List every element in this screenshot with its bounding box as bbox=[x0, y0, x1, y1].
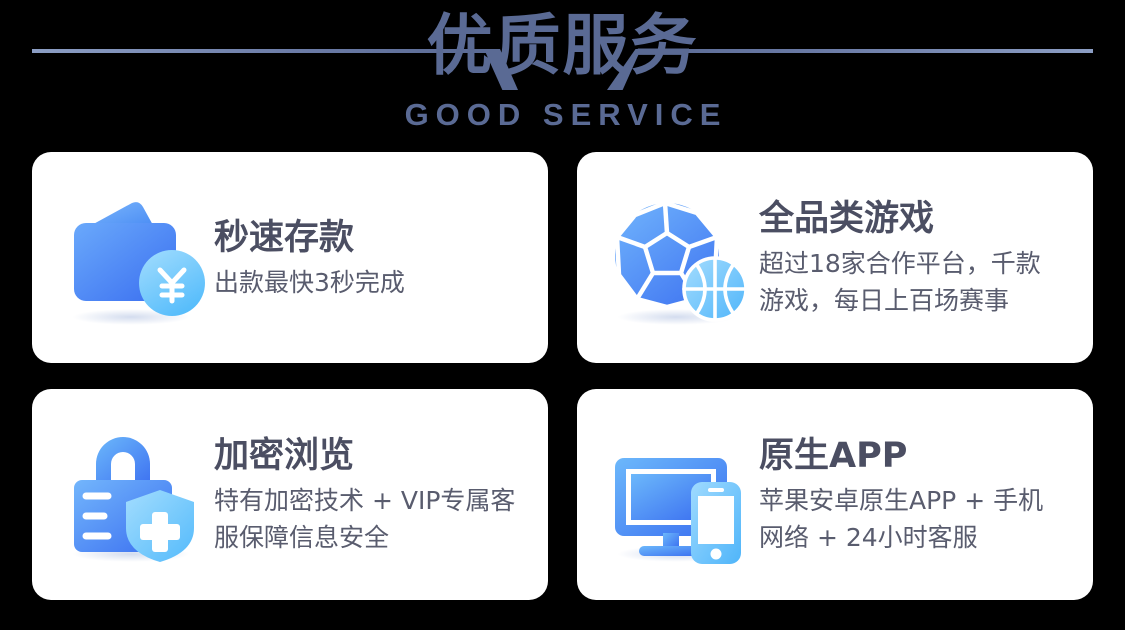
feature-card-games[interactable]: 全品类游戏 超过18家合作平台，千款 游戏，每日上百场赛事 bbox=[577, 152, 1093, 363]
feature-card-subtitle-line: 服保障信息安全 bbox=[214, 519, 534, 556]
page-subtitle: GOOD SERVICE bbox=[0, 96, 1125, 134]
feature-card-subtitle-line: 超过18家合作平台，千款 bbox=[759, 245, 1079, 282]
feature-card-subtitle-line: 网络 + 24小时客服 bbox=[759, 519, 1079, 556]
lock-shield-icon bbox=[60, 420, 210, 570]
feature-card-subtitle-line: 出款最快3秒完成 bbox=[214, 264, 534, 301]
feature-card-subtitle: 出款最快3秒完成 bbox=[214, 264, 534, 301]
page-title: 优质服务 bbox=[0, 4, 1125, 88]
soccer-basketball-icon bbox=[605, 183, 755, 333]
feature-card-text: 加密浏览 特有加密技术 + VIP专属客 服保障信息安全 bbox=[214, 433, 548, 556]
monitor-phone-icon bbox=[605, 420, 755, 570]
wallet-yen-icon bbox=[60, 183, 210, 333]
feature-card-title: 加密浏览 bbox=[214, 433, 534, 479]
feature-card-text: 全品类游戏 超过18家合作平台，千款 游戏，每日上百场赛事 bbox=[759, 196, 1093, 319]
feature-card-text: 原生APP 苹果安卓原生APP + 手机 网络 + 24小时客服 bbox=[759, 433, 1093, 556]
feature-card-title: 原生APP bbox=[759, 433, 1079, 479]
feature-card-subtitle-line: 苹果安卓原生APP + 手机 bbox=[759, 482, 1079, 519]
page-header: 优质服务 GOOD SERVICE bbox=[0, 0, 1125, 150]
feature-card-grid: 秒速存款 出款最快3秒完成 bbox=[32, 152, 1093, 600]
feature-card-title: 全品类游戏 bbox=[759, 196, 1079, 242]
feature-card-text: 秒速存款 出款最快3秒完成 bbox=[214, 215, 548, 301]
feature-card-encryption[interactable]: 加密浏览 特有加密技术 + VIP专属客 服保障信息安全 bbox=[32, 389, 548, 600]
feature-card-subtitle-line: 特有加密技术 + VIP专属客 bbox=[214, 482, 534, 519]
feature-card-subtitle-line: 游戏，每日上百场赛事 bbox=[759, 282, 1079, 319]
feature-card-subtitle: 苹果安卓原生APP + 手机 网络 + 24小时客服 bbox=[759, 482, 1079, 556]
feature-card-title: 秒速存款 bbox=[214, 215, 534, 261]
feature-card-subtitle: 特有加密技术 + VIP专属客 服保障信息安全 bbox=[214, 482, 534, 556]
feature-card-subtitle: 超过18家合作平台，千款 游戏，每日上百场赛事 bbox=[759, 245, 1079, 319]
feature-card-deposit[interactable]: 秒速存款 出款最快3秒完成 bbox=[32, 152, 548, 363]
feature-card-native-app[interactable]: 原生APP 苹果安卓原生APP + 手机 网络 + 24小时客服 bbox=[577, 389, 1093, 600]
